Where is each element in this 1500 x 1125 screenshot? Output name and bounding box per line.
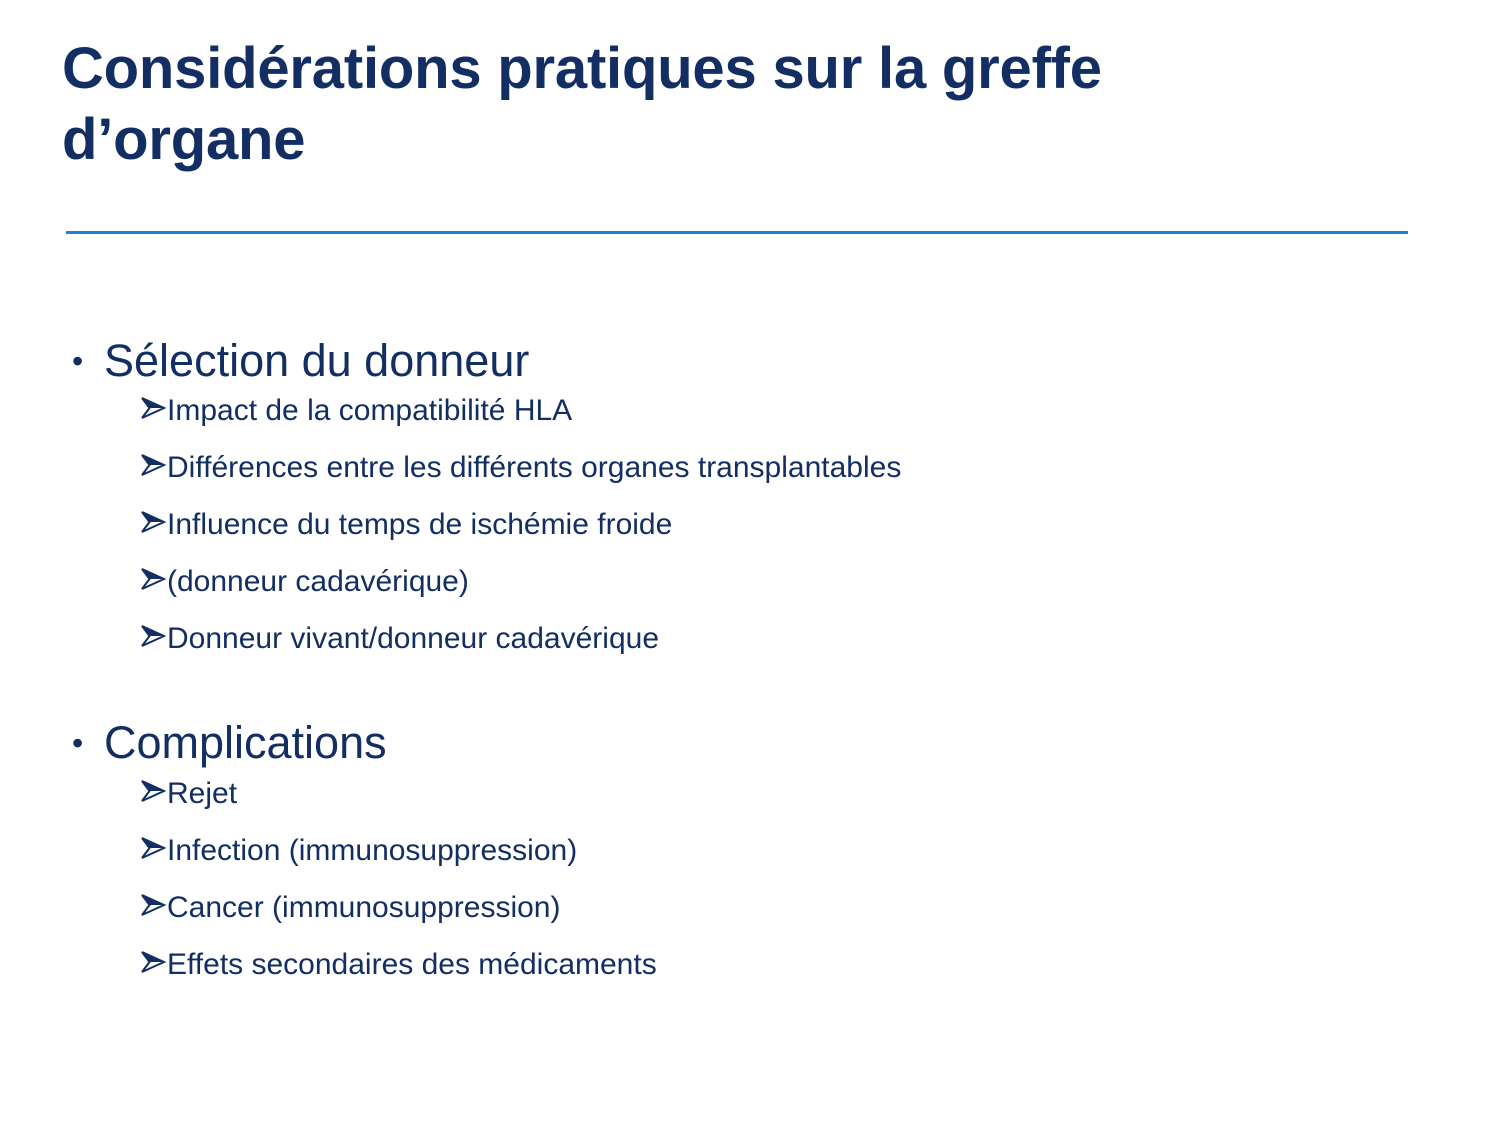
sublist-selection-du-donneur: Impact de la compatibilité HLA Différenc… bbox=[62, 394, 1442, 654]
list-item: Rejet bbox=[62, 777, 1442, 809]
list-item-label: Effets secondaires des médicaments bbox=[167, 950, 1442, 980]
arrowhead-icon bbox=[62, 566, 167, 592]
title-divider-rule bbox=[66, 231, 1408, 234]
slide: Considérations pratiques sur la greffe d… bbox=[0, 0, 1500, 1125]
list-item: Impact de la compatibilité HLA bbox=[62, 394, 1442, 426]
list-item-label: Rejet bbox=[167, 779, 1442, 809]
bullet-level1-selection-du-donneur: • Sélection du donneur bbox=[62, 336, 1442, 386]
list-item-label: Impact de la compatibilité HLA bbox=[167, 396, 1442, 426]
arrowhead-icon bbox=[62, 623, 167, 649]
bullet-level1-label: Complications bbox=[104, 718, 1442, 768]
bullet-content: • Sélection du donneur Impact de la comp… bbox=[62, 336, 1442, 980]
arrowhead-icon bbox=[62, 835, 167, 861]
list-item: Donneur vivant/donneur cadavérique bbox=[62, 622, 1442, 654]
arrowhead-icon bbox=[62, 949, 167, 975]
bullet-level1-label: Sélection du donneur bbox=[104, 336, 1442, 386]
arrowhead-icon bbox=[62, 395, 167, 421]
title-block: Considérations pratiques sur la greffe d… bbox=[62, 34, 1262, 176]
bullet-dot-icon: • bbox=[62, 345, 104, 377]
list-item: Infection (immunosuppression) bbox=[62, 834, 1442, 866]
bullet-group-selection-du-donneur: • Sélection du donneur Impact de la comp… bbox=[62, 336, 1442, 654]
list-item-label: Cancer (immunosuppression) bbox=[167, 893, 1442, 923]
list-item: Différences entre les différents organes… bbox=[62, 451, 1442, 483]
list-item: (donneur cadavérique) bbox=[62, 565, 1442, 597]
bullet-dot-icon: • bbox=[62, 727, 104, 759]
arrowhead-icon bbox=[62, 892, 167, 918]
list-item-label: Infection (immunosuppression) bbox=[167, 836, 1442, 866]
bullet-level1-complications: • Complications bbox=[62, 718, 1442, 768]
list-item-label: Influence du temps de ischémie froide bbox=[167, 510, 1442, 540]
arrowhead-icon bbox=[62, 452, 167, 478]
sublist-complications: Rejet Infection (immunosuppression) bbox=[62, 777, 1442, 980]
list-item-label: (donneur cadavérique) bbox=[167, 567, 1442, 597]
list-item: Influence du temps de ischémie froide bbox=[62, 508, 1442, 540]
list-item: Cancer (immunosuppression) bbox=[62, 891, 1442, 923]
list-item-label: Donneur vivant/donneur cadavérique bbox=[167, 624, 1442, 654]
list-item: Effets secondaires des médicaments bbox=[62, 948, 1442, 980]
arrowhead-icon bbox=[62, 509, 167, 535]
bullet-group-complications: • Complications Rejet bbox=[62, 718, 1442, 979]
page-title: Considérations pratiques sur la greffe d… bbox=[62, 34, 1262, 176]
list-item-label: Différences entre les différents organes… bbox=[167, 453, 1442, 483]
arrowhead-icon bbox=[62, 778, 167, 804]
